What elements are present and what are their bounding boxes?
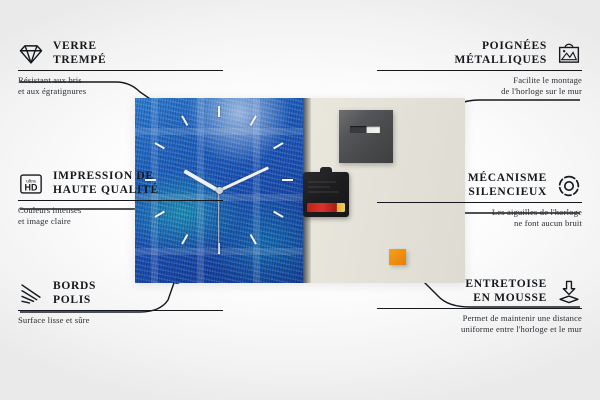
feature-subtitle-line1: Surface lisse et sûre xyxy=(18,315,223,326)
feature-divider xyxy=(18,200,223,201)
foam-spacer xyxy=(389,249,406,265)
feature-subtitle-line1: Résistant aux bris xyxy=(18,75,223,86)
press-down-pad-icon xyxy=(556,279,582,305)
feature-title: VERRE TREMPÉ xyxy=(53,40,106,67)
feature-header: BORDS POLIS xyxy=(18,280,223,307)
feature-subtitle-line1: Facilite le montage xyxy=(377,75,582,86)
feature-divider xyxy=(377,202,582,203)
feature-title: MÉCANISME SILENCIEUX xyxy=(468,172,547,199)
feature-divider xyxy=(377,308,582,309)
feature-title: POIGNÉES MÉTALLIQUES xyxy=(455,40,547,67)
feature-header: ENTRETOISE EN MOUSSE xyxy=(377,278,582,305)
mounting-plate-slot xyxy=(350,126,380,133)
feature-subtitle-line1: Les aiguilles de l'horloge xyxy=(377,207,582,218)
diamond-icon xyxy=(18,41,44,67)
feature-subtitle-line1: Couleurs intenses xyxy=(18,205,223,216)
feature-title: IMPRESSION DE HAUTE QUALITÉ xyxy=(53,170,159,197)
mechanism-shaft xyxy=(320,167,332,174)
ultra-hd-icon: ultra HD xyxy=(18,171,44,197)
feature-subtitle-line2: uniforme entre l'horloge et le mur xyxy=(377,324,582,335)
feature-subtitle-line2: de l'horloge sur le mur xyxy=(377,86,582,97)
picture-frame-hook-icon xyxy=(556,41,582,67)
feature-header: MÉCANISME SILENCIEUX xyxy=(377,172,582,199)
feature-subtitle-line2: et image claire xyxy=(18,216,223,227)
mounting-plate xyxy=(339,110,393,163)
gear-icon xyxy=(556,173,582,199)
feature-poignees-metalliques: POIGNÉES MÉTALLIQUES Facilite le montage… xyxy=(377,40,582,97)
feature-divider xyxy=(18,310,223,311)
feature-subtitle-line1: Permet de maintenir une distance xyxy=(377,313,582,324)
feature-header: ultra HD IMPRESSION DE HAUTE QUALITÉ xyxy=(18,170,223,197)
feature-subtitle-line2: et aux égratignures xyxy=(18,86,223,97)
feature-divider xyxy=(18,70,223,71)
svg-text:HD: HD xyxy=(25,182,38,192)
feature-verre-trempe: VERRE TREMPÉ Résistant aux bris et aux é… xyxy=(18,40,223,97)
feature-entretoise-en-mousse: ENTRETOISE EN MOUSSE Permet de maintenir… xyxy=(377,278,582,335)
feature-header: POIGNÉES MÉTALLIQUES xyxy=(377,40,582,67)
feature-subtitle-line2: ne font aucun bruit xyxy=(377,218,582,229)
feature-divider xyxy=(377,70,582,71)
feature-bords-polis: BORDS POLIS Surface lisse et sûre xyxy=(18,280,223,326)
clock-mechanism xyxy=(303,172,349,217)
battery xyxy=(307,203,345,212)
feature-header: VERRE TREMPÉ xyxy=(18,40,223,67)
polished-edges-icon xyxy=(18,281,44,307)
feature-impression-haute-qualite: ultra HD IMPRESSION DE HAUTE QUALITÉ Cou… xyxy=(18,170,223,227)
infographic-stage: VERRE TREMPÉ Résistant aux bris et aux é… xyxy=(0,0,600,400)
feature-title: ENTRETOISE EN MOUSSE xyxy=(465,278,547,305)
feature-title: BORDS POLIS xyxy=(53,280,96,307)
feature-mecanisme-silencieux: MÉCANISME SILENCIEUX Les aiguilles de l'… xyxy=(377,172,582,229)
